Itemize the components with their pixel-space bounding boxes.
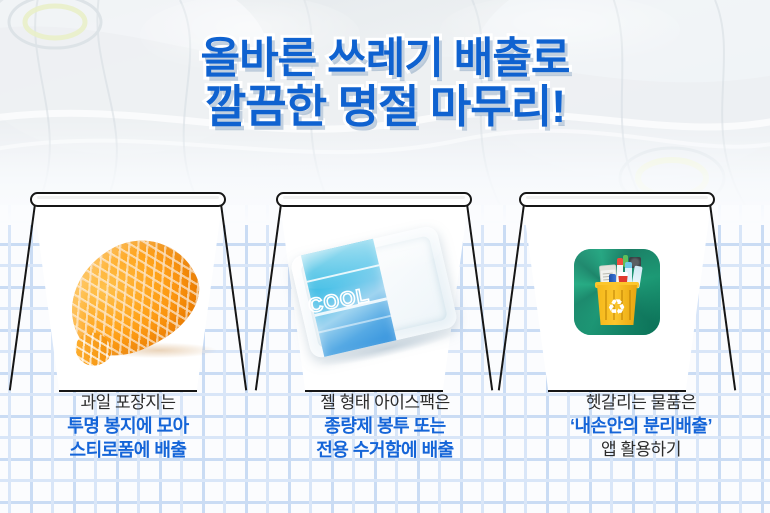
- caption-line-2: 투명 봉지에 모아: [3, 415, 253, 439]
- recycle-symbol-icon: ♻: [604, 297, 629, 319]
- bin-content: COOL: [258, 192, 490, 392]
- bin-app: ♻: [501, 192, 733, 392]
- bins-row: COOL: [0, 192, 770, 392]
- caption-fruit-net: 과일 포장지는 투명 봉지에 모아 스티로폼에 배출: [3, 392, 253, 462]
- caption-line-1: 헷갈리는 물품은: [516, 392, 766, 415]
- bin-content: [12, 192, 244, 392]
- caption-ice-pack: 젤 형태 아이스팩은 종량제 봉투 또는 전용 수거함에 배출: [260, 392, 510, 462]
- caption-line-2: ‘내손안의 분리배출’: [516, 415, 766, 439]
- caption-line-2: 종량제 봉투 또는: [260, 415, 510, 439]
- title-line-2: 깔끔한 명절 마무리!: [0, 84, 770, 130]
- caption-line-3: 앱 활용하기: [516, 439, 766, 462]
- caption-line-1: 젤 형태 아이스팩은: [260, 392, 510, 415]
- recycling-app-icon: ♻: [574, 249, 660, 335]
- caption-line-1: 과일 포장지는: [3, 392, 253, 415]
- page-title: 올바른 쓰레기 배출로 깔끔한 명절 마무리!: [0, 38, 770, 130]
- gel-ice-pack-icon: COOL: [289, 224, 459, 359]
- caption-line-3: 전용 수거함에 배출: [260, 439, 510, 463]
- bin-content: ♻: [501, 192, 733, 392]
- poster-root: 올바른 쓰레기 배출로 깔끔한 명절 마무리!: [0, 0, 770, 513]
- title-line-1: 올바른 쓰레기 배출로: [0, 38, 770, 82]
- caption-line-3: 스티로폼에 배출: [3, 439, 253, 463]
- bin-ice-pack: COOL: [258, 192, 490, 392]
- caption-app: 헷갈리는 물품은 ‘내손안의 분리배출’ 앱 활용하기: [516, 392, 766, 461]
- bin-fruit-net: [12, 192, 244, 392]
- orange-fruit-net-icon: [50, 220, 215, 373]
